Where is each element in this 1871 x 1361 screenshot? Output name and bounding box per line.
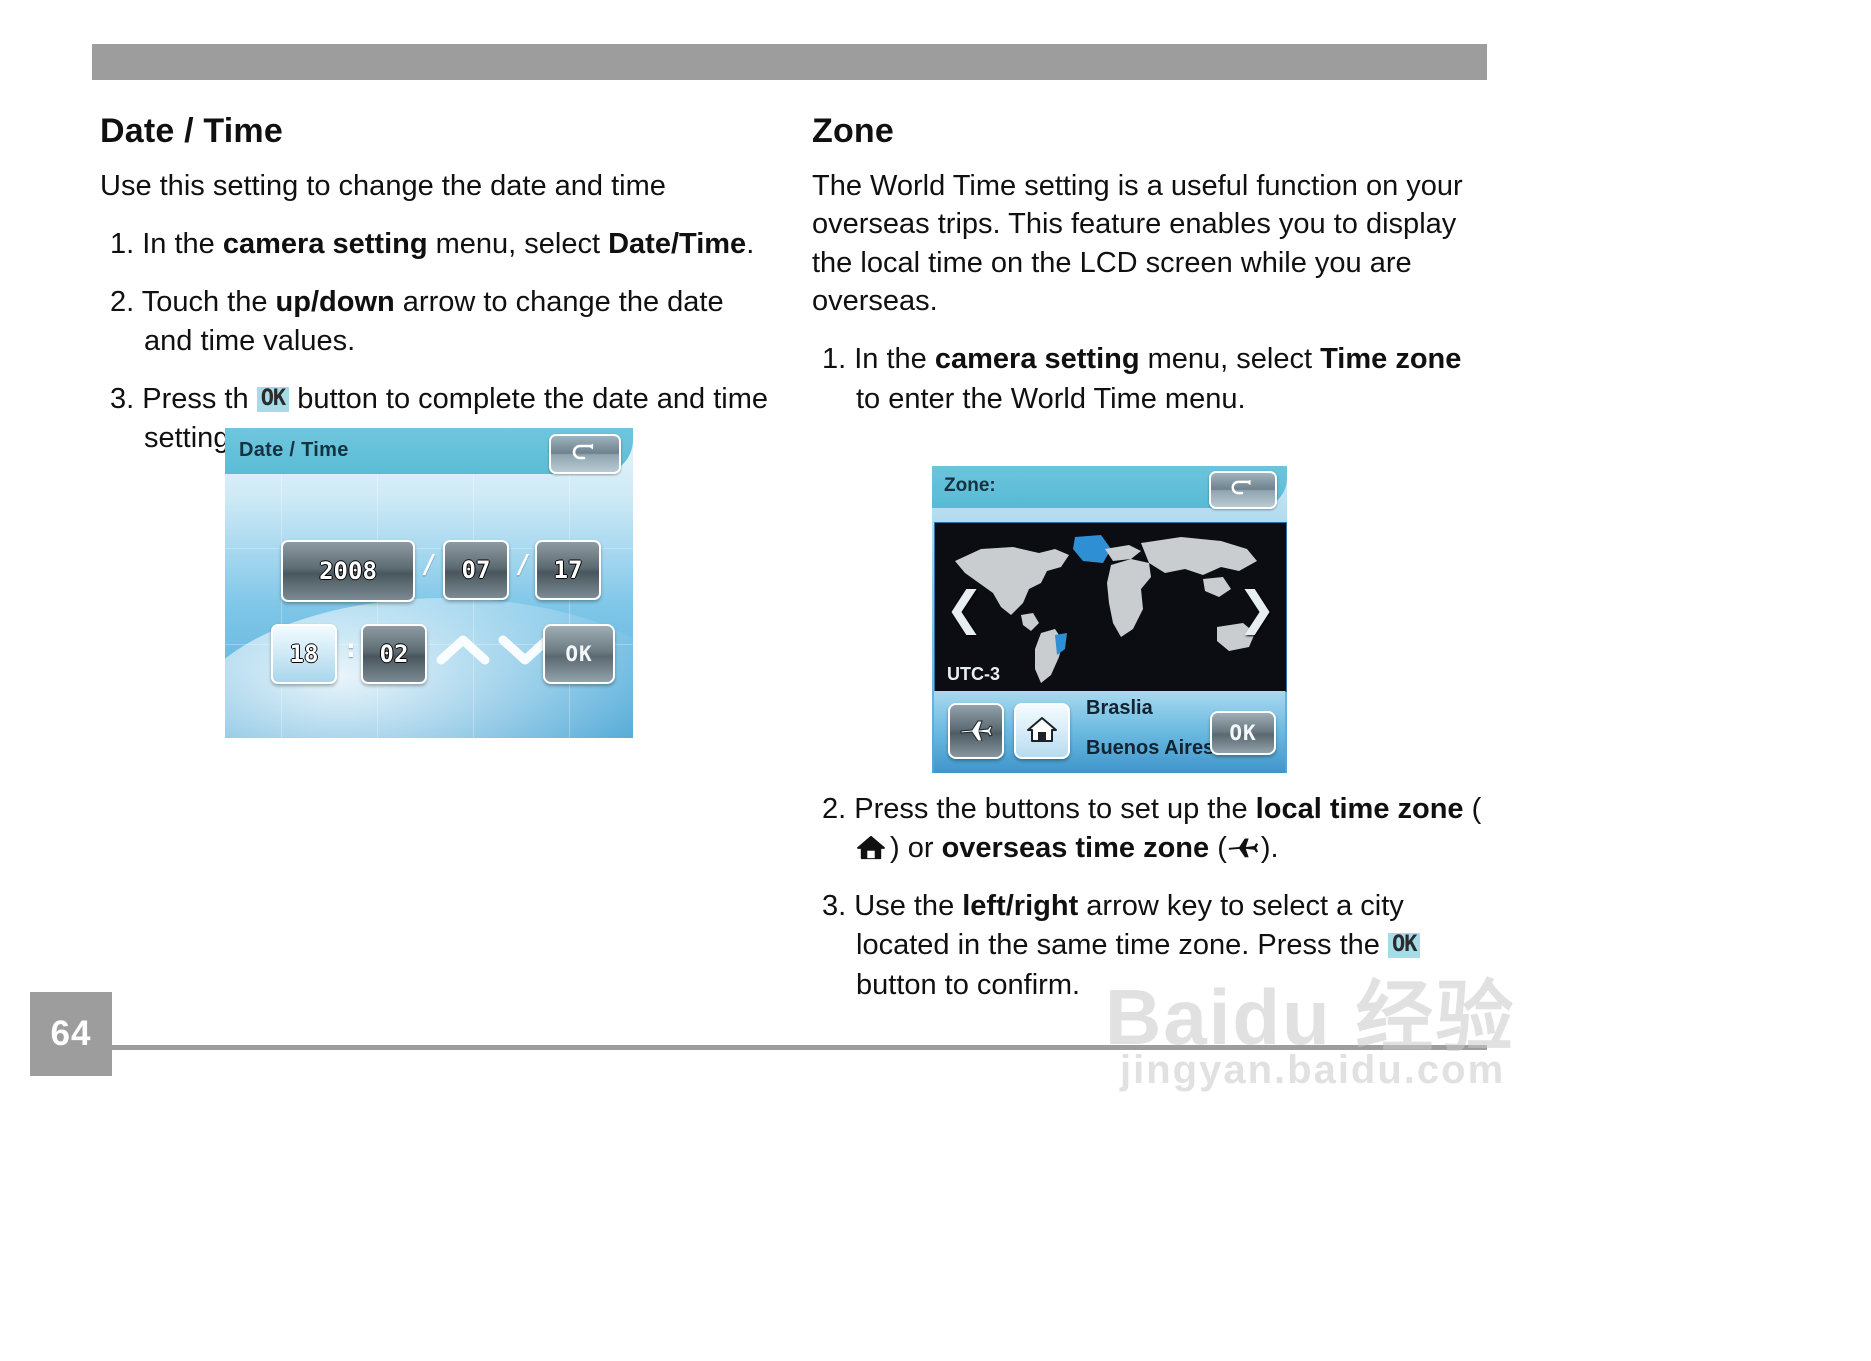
city-name-primary: Braslia	[1086, 697, 1153, 720]
page-number: 64	[30, 992, 112, 1076]
steps-list-date-time: 1. In the camera setting menu, select Da…	[100, 225, 770, 458]
step-number: 3.	[822, 890, 854, 922]
month-field[interactable]: 07	[443, 540, 509, 600]
world-map[interactable]: ❮ ❯ UTC-3	[934, 522, 1287, 692]
right-column: Zone The World Time setting is a useful …	[812, 112, 1482, 437]
lcd-title-label: Date / Time	[239, 439, 349, 462]
lcd-grid-line	[569, 474, 570, 738]
step-item: 2. Press the buttons to set up the local…	[812, 790, 1482, 869]
lcd-screenshot-date-time: Date / Time 2008 / 07 / 17 18 : 02 OK	[225, 428, 633, 738]
step-number: 2.	[110, 286, 142, 318]
step-emphasis: local time zone	[1256, 793, 1464, 825]
step-number: 1.	[110, 228, 142, 260]
year-field[interactable]: 2008	[281, 540, 415, 602]
page-title-zone: Zone	[812, 112, 1482, 151]
step-text: button to confirm.	[856, 969, 1080, 1001]
hour-field[interactable]: 18	[271, 624, 337, 684]
ok-button-inline-icon: OK	[1388, 933, 1421, 958]
steps-list-zone-bottom: 2. Press the buttons to set up the local…	[812, 790, 1482, 1005]
step-text: ) or	[890, 832, 942, 864]
map-right-arrow[interactable]: ❯	[1237, 585, 1276, 631]
date-separator-2: /	[515, 550, 531, 580]
step-emphasis: Date/Time	[608, 228, 746, 260]
utc-offset-label: UTC-3	[947, 664, 1000, 685]
step-emphasis: camera setting	[935, 343, 1140, 375]
steps-list-zone-top: 1. In the camera setting menu, select Ti…	[812, 340, 1482, 419]
chevron-up-icon	[435, 659, 491, 676]
step-text: (	[1464, 793, 1482, 825]
time-separator: :	[343, 634, 359, 664]
step-text: Press the buttons to set up the	[854, 793, 1255, 825]
right-column-lower: 2. Press the buttons to set up the local…	[812, 790, 1482, 1023]
step-number: 2.	[822, 793, 854, 825]
step-emphasis: camera setting	[223, 228, 428, 260]
plane-icon	[1227, 834, 1261, 864]
step-text: ).	[1261, 832, 1279, 864]
home-icon	[1026, 715, 1058, 748]
left-column: Date / Time Use this setting to change t…	[100, 112, 770, 476]
step-text: menu, select	[1140, 343, 1321, 375]
lcd-zone-bottom-bar: Braslia Buenos Aires OK	[934, 691, 1285, 773]
up-arrow-button[interactable]	[435, 628, 491, 677]
step-emphasis: left/right	[962, 890, 1078, 922]
day-field[interactable]: 17	[535, 540, 601, 600]
step-item: 2. Touch the up/down arrow to change the…	[100, 283, 770, 362]
lcd-screenshot-zone: Zone:	[932, 466, 1287, 773]
home-icon	[856, 834, 890, 864]
step-item: 1. In the camera setting menu, select Ti…	[812, 340, 1482, 419]
step-text: In the	[142, 228, 223, 260]
ok-button-inline-icon: OK	[257, 387, 290, 412]
lcd-zone-title-label: Zone:	[944, 475, 996, 497]
back-arrow-icon	[1229, 478, 1257, 502]
page-footer-rule	[92, 1045, 1487, 1050]
city-name-secondary: Buenos Aires	[1086, 737, 1214, 760]
minute-field[interactable]: 02	[361, 624, 427, 684]
step-item: 1. In the camera setting menu, select Da…	[100, 225, 770, 264]
back-arrow-icon	[570, 442, 600, 467]
lcd-ok-button[interactable]: OK	[543, 624, 615, 684]
local-time-zone-button[interactable]	[1014, 703, 1070, 759]
intro-text-zone: The World Time setting is a useful funct…	[812, 167, 1482, 320]
step-text: .	[746, 228, 754, 260]
step-text: Use the	[854, 890, 962, 922]
lcd-grid-line	[281, 474, 282, 738]
map-left-arrow[interactable]: ❮	[945, 585, 984, 631]
plane-icon	[959, 717, 993, 746]
lcd-zone-ok-button[interactable]: OK	[1210, 711, 1276, 755]
step-emphasis: up/down	[276, 286, 395, 318]
step-text: Touch the	[142, 286, 276, 318]
step-text: (	[1209, 832, 1227, 864]
step-number: 1.	[822, 343, 854, 375]
step-item: 3. Use the left/right arrow key to selec…	[812, 887, 1482, 1005]
step-text: Press th	[142, 383, 256, 415]
step-text: menu, select	[428, 228, 609, 260]
step-text: In the	[854, 343, 935, 375]
lcd-zone-back-button[interactable]	[1209, 471, 1277, 509]
lcd-grid-line	[473, 474, 474, 738]
step-emphasis: overseas time zone	[942, 832, 1210, 864]
step-number: 3.	[110, 383, 142, 415]
date-separator-1: /	[421, 550, 437, 580]
page-header-rule	[92, 44, 1487, 80]
lcd-back-button[interactable]	[549, 434, 621, 474]
intro-text-date-time: Use this setting to change the date and …	[100, 167, 770, 205]
overseas-time-zone-button[interactable]	[948, 703, 1004, 759]
step-text: to enter the World Time menu.	[856, 383, 1246, 415]
step-emphasis: Time zone	[1320, 343, 1461, 375]
watermark-secondary: jingyan.baidu.com	[1120, 1048, 1505, 1093]
page-title-date-time: Date / Time	[100, 112, 770, 151]
lcd-grid-line	[377, 474, 378, 738]
